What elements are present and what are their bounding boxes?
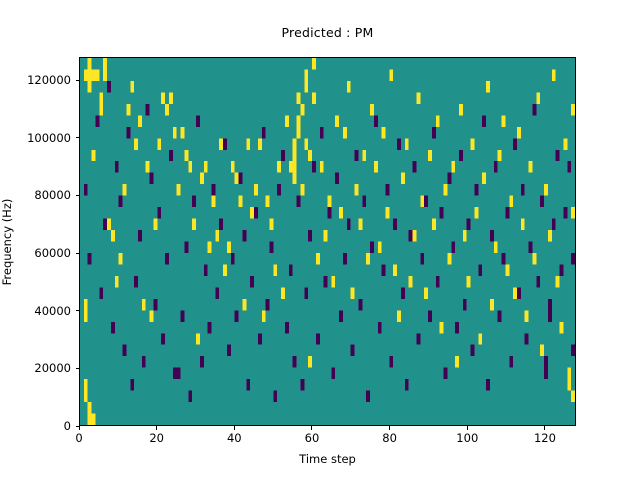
x-tick-6	[544, 426, 545, 430]
x-tick-label-1: 20	[149, 431, 164, 445]
y-tick-2	[76, 310, 80, 311]
x-axis-label: Time step	[79, 452, 576, 466]
y-tick-label-3: 60000	[34, 246, 71, 260]
x-tick-4	[389, 426, 390, 430]
y-tick-5	[76, 137, 80, 138]
heatmap-axes	[79, 57, 576, 426]
y-tick-label-5: 100000	[27, 131, 71, 145]
matplotlib-figure: Predicted : PM Time step Frequency (Hz) …	[0, 0, 640, 480]
x-tick-label-3: 60	[305, 431, 320, 445]
x-tick-label-5: 100	[456, 431, 478, 445]
y-tick-1	[76, 368, 80, 369]
y-tick-label-2: 40000	[34, 304, 71, 318]
x-tick-label-6: 120	[534, 431, 556, 445]
y-tick-6	[76, 80, 80, 81]
y-tick-4	[76, 195, 80, 196]
y-tick-0	[76, 426, 80, 427]
page-title: Predicted : PM	[79, 25, 576, 40]
y-axis-label: Frequency (Hz)	[0, 198, 14, 285]
y-tick-label-4: 80000	[34, 188, 71, 202]
x-tick-3	[311, 426, 312, 430]
x-tick-label-2: 40	[227, 431, 242, 445]
x-tick-label-4: 80	[382, 431, 397, 445]
x-tick-2	[234, 426, 235, 430]
y-tick-3	[76, 253, 80, 254]
y-tick-label-0: 0	[64, 419, 71, 433]
y-tick-label-1: 20000	[34, 361, 71, 375]
heatmap-image	[80, 58, 575, 425]
y-tick-label-6: 120000	[27, 73, 71, 87]
x-tick-label-0: 0	[75, 431, 82, 445]
x-tick-5	[467, 426, 468, 430]
x-tick-0	[79, 426, 80, 430]
x-tick-1	[156, 426, 157, 430]
